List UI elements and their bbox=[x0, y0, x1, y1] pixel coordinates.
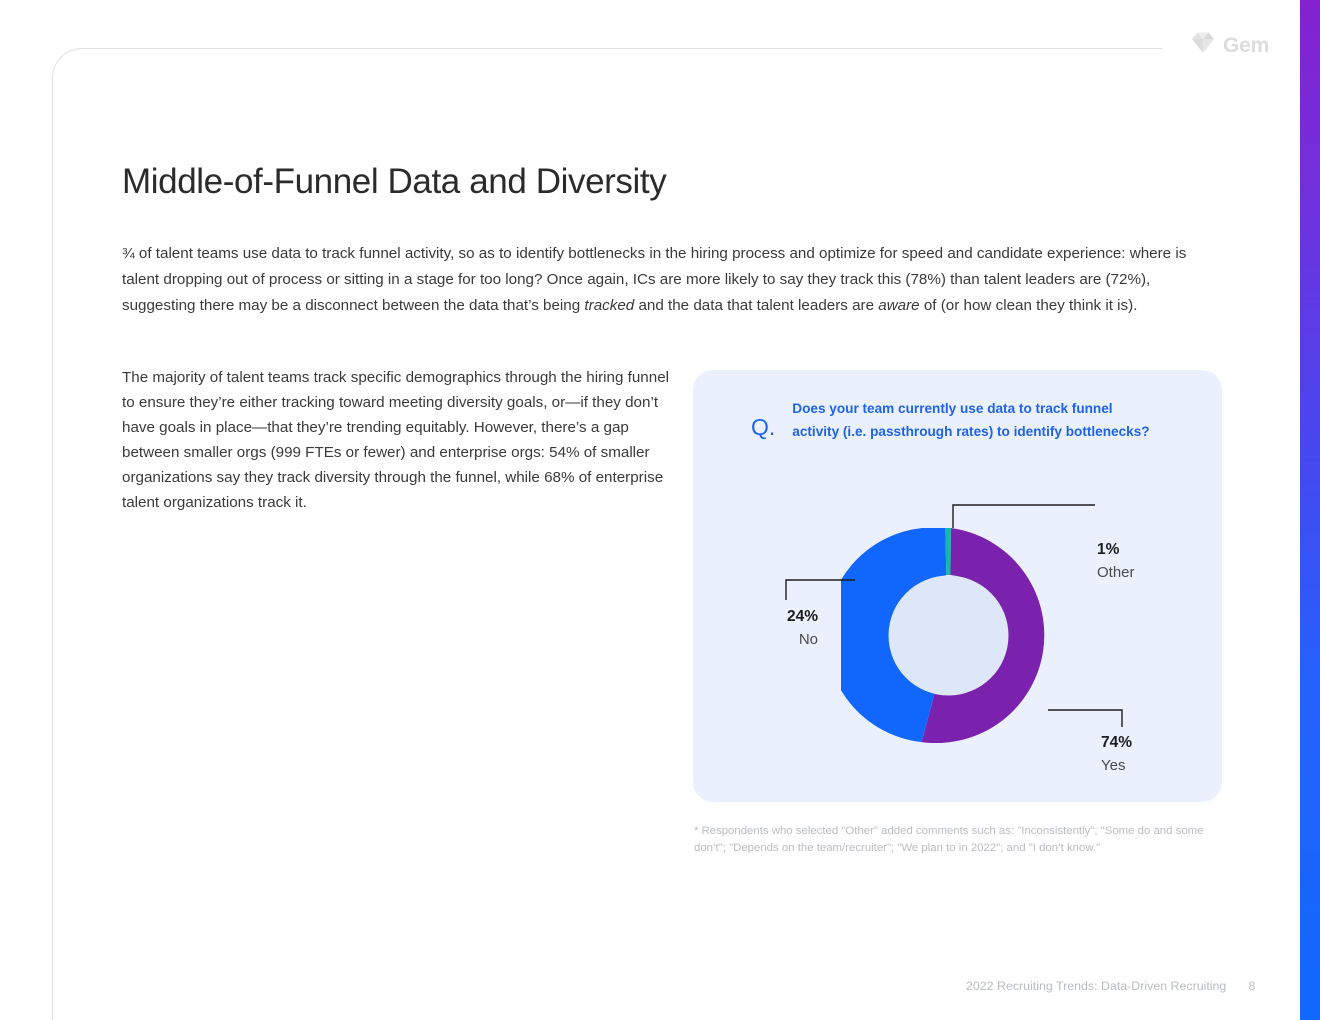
callout-other: 1% Other bbox=[1097, 542, 1135, 580]
gem-logo: Gem bbox=[1190, 30, 1269, 61]
intro-paragraph-part2: and the data that talent leaders are bbox=[634, 297, 878, 314]
callout-yes-value: 74% bbox=[1101, 735, 1132, 751]
callout-other-label: Other bbox=[1097, 565, 1135, 580]
callout-yes: 74% Yes bbox=[1101, 735, 1132, 773]
chart-panel: Q. Does your team currently use data to … bbox=[693, 370, 1222, 802]
callout-no: 24% No bbox=[764, 609, 818, 647]
slide-page: Gem Middle-of-Funnel Data and Diversity … bbox=[0, 0, 1320, 1020]
donut-chart bbox=[841, 528, 1056, 743]
callout-other-value: 1% bbox=[1097, 542, 1135, 558]
intro-paragraph-italic-aware: aware bbox=[878, 297, 919, 314]
gem-diamond-icon bbox=[1190, 30, 1216, 61]
diversity-paragraph: The majority of talent teams track speci… bbox=[122, 365, 674, 515]
question-block: Q. Does your team currently use data to … bbox=[751, 398, 1154, 443]
footer-page-number: 8 bbox=[1248, 979, 1255, 993]
edge-gradient-bar bbox=[1300, 0, 1320, 1020]
donut-chart-svg bbox=[841, 528, 1056, 743]
page-title: Middle-of-Funnel Data and Diversity bbox=[122, 162, 666, 202]
donut-center-hole bbox=[889, 576, 1009, 696]
callout-no-value: 24% bbox=[764, 609, 818, 625]
footnote-text: Respondents who selected "Other" added c… bbox=[694, 825, 1204, 854]
callout-yes-label: Yes bbox=[1101, 758, 1132, 773]
question-prefix: Q. bbox=[751, 398, 775, 439]
page-footer: 2022 Recruiting Trends: Data-Driven Recr… bbox=[966, 979, 1255, 993]
footer-doc-title: 2022 Recruiting Trends: Data-Driven Recr… bbox=[966, 979, 1226, 993]
chart-footnote: *Respondents who selected "Other" added … bbox=[694, 823, 1216, 857]
intro-paragraph-part3: of (or how clean they think it is). bbox=[920, 297, 1138, 314]
intro-paragraph: ¾ of talent teams use data to track funn… bbox=[122, 241, 1207, 319]
callout-no-label: No bbox=[764, 632, 818, 647]
footnote-asterisk: * bbox=[694, 825, 698, 837]
intro-paragraph-italic-tracked: tracked bbox=[584, 297, 634, 314]
gem-logo-text: Gem bbox=[1223, 35, 1269, 56]
question-text: Does your team currently use data to tra… bbox=[792, 398, 1154, 443]
